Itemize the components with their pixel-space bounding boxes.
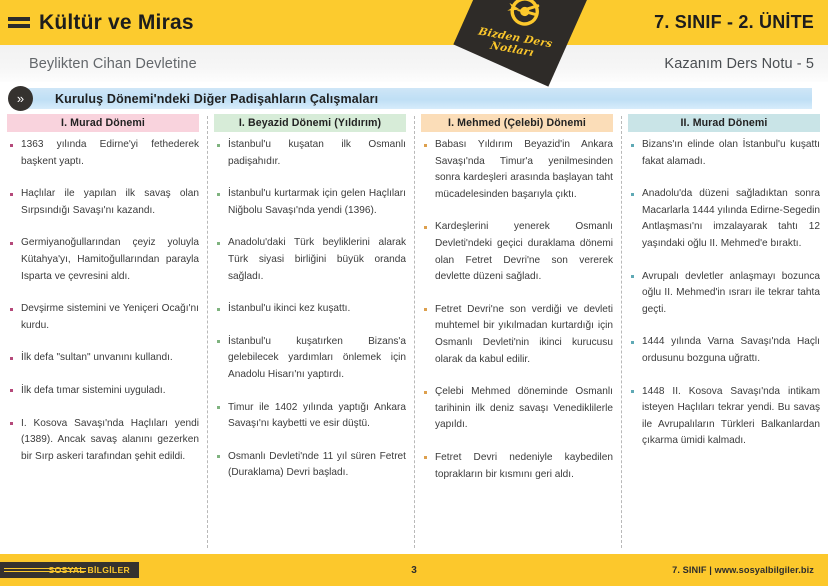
column-item-list: Babası Yıldırım Beyazid'in Ankara Savaşı… [421, 137, 613, 483]
worksheet-page: Kültür ve Miras 7. SINIF - 2. ÜNİTE Bizd… [0, 0, 828, 586]
column-header: I. Murad Dönemi [7, 114, 199, 132]
list-item: İstanbul'u kuşatan ilk Osmanlı padişahıd… [214, 137, 406, 170]
page-title: Kültür ve Miras [39, 12, 194, 33]
list-item: İlk defa "sultan" unvanını kullandı. [7, 350, 199, 367]
subtitle-right: Kazanım Ders Notu - 5 [664, 56, 828, 72]
list-item: 1444 yılında Varna Savaşı'nda Haçlı ordu… [628, 334, 820, 367]
subtitle-bar: Beylikten Cihan Devletine Kazanım Ders N… [0, 45, 828, 82]
list-item: 1363 yılında Edirne'yi fethederek başken… [7, 137, 199, 170]
subtitle-left: Beylikten Cihan Devletine [0, 56, 197, 72]
section-title-bar: Kuruluş Dönemi'ndeki Diğer Padişahların … [21, 88, 812, 109]
column-header: II. Murad Dönemi [628, 114, 820, 132]
list-item: Haçlılar ile yapılan ilk savaş olan Sırp… [7, 186, 199, 219]
footer-bar: SOSYAL BİLGİLER 3 7. SINIF | www.sosyalb… [0, 554, 828, 586]
column-item-list: 1363 yılında Edirne'yi fethederek başken… [7, 137, 199, 465]
hamburger-icon [8, 17, 30, 28]
list-item: I. Kosova Savaşı'nda Haçlıları yendi (13… [7, 416, 199, 466]
grade-unit-label: 7. SINIF - 2. ÜNİTE [654, 12, 828, 33]
list-item: Fetret Devri'ne son verdiği ve devleti m… [421, 302, 613, 368]
column-item-list: Bizans'ın elinde olan İstanbul'u kuşattı… [628, 137, 820, 450]
columns-container: I. Murad Dönemi 1363 yılında Edirne'yi f… [0, 114, 828, 554]
column-murad-2: II. Murad Dönemi Bizans'ın elinde olan İ… [621, 114, 828, 554]
column-header: I. Beyazid Dönemi (Yıldırım) [214, 114, 406, 132]
list-item: İstanbul'u kuşatırken Bizans'a gelebilec… [214, 334, 406, 384]
column-item-list: İstanbul'u kuşatan ilk Osmanlı padişahıd… [214, 137, 406, 482]
footer-website: 7. SINIF | www.sosyalbilgiler.biz [672, 565, 814, 575]
column-beyazid-1: I. Beyazid Dönemi (Yıldırım) İstanbul'u … [207, 114, 414, 554]
list-item: Kardeşlerini yenerek Osmanlı Devleti'nde… [421, 219, 613, 285]
column-mehmed-1: I. Mehmed (Çelebi) Dönemi Babası Yıldırı… [414, 114, 621, 554]
list-item: İlk defa tımar sistemini uyguladı. [7, 383, 199, 400]
subject-badge-label: SOSYAL BİLGİLER [49, 565, 139, 575]
list-item: Timur ile 1402 yılında yaptığı Ankara Sa… [214, 400, 406, 433]
list-item: Babası Yıldırım Beyazid'in Ankara Savaşı… [421, 137, 613, 203]
list-item: İstanbul'u ikinci kez kuşattı. [214, 301, 406, 318]
target-arrow-icon [503, 0, 544, 30]
column-murad-1: I. Murad Dönemi 1363 yılında Edirne'yi f… [0, 114, 207, 554]
double-chevron-right-icon: » [8, 86, 33, 111]
list-item: Germiyanoğullarından çeyiz yoluyla Kütah… [7, 235, 199, 285]
list-item: İstanbul'u kurtarmak için gelen Haçlılar… [214, 186, 406, 219]
header-bar: Kültür ve Miras 7. SINIF - 2. ÜNİTE [0, 0, 828, 45]
section-title: Kuruluş Dönemi'ndeki Diğer Padişahların … [21, 92, 378, 106]
list-item: Devşirme sistemini ve Yeniçeri Ocağı'nı … [7, 301, 199, 334]
list-item: Fetret Devri nedeniyle kaybedilen toprak… [421, 450, 613, 483]
header-left: Kültür ve Miras [0, 12, 194, 33]
logo-inner: Bizden Ders Notları [474, 0, 563, 65]
list-item: Çelebi Mehmed döneminde Osmanlı tarihini… [421, 384, 613, 434]
list-item: Bizans'ın elinde olan İstanbul'u kuşattı… [628, 137, 820, 170]
list-item: Osmanlı Devleti'nde 11 yıl süren Fetret … [214, 449, 406, 482]
list-item: Avrupalı devletler anlaşmayı bozunca oğl… [628, 269, 820, 319]
list-item: 1448 II. Kosova Savaşı'nda intikam istey… [628, 384, 820, 450]
column-header: I. Mehmed (Çelebi) Dönemi [421, 114, 613, 132]
list-item: Anadolu'daki Türk beyliklerini alarak Tü… [214, 235, 406, 285]
list-item: Anadolu'da düzeni sağladıktan sonra Maca… [628, 186, 820, 252]
